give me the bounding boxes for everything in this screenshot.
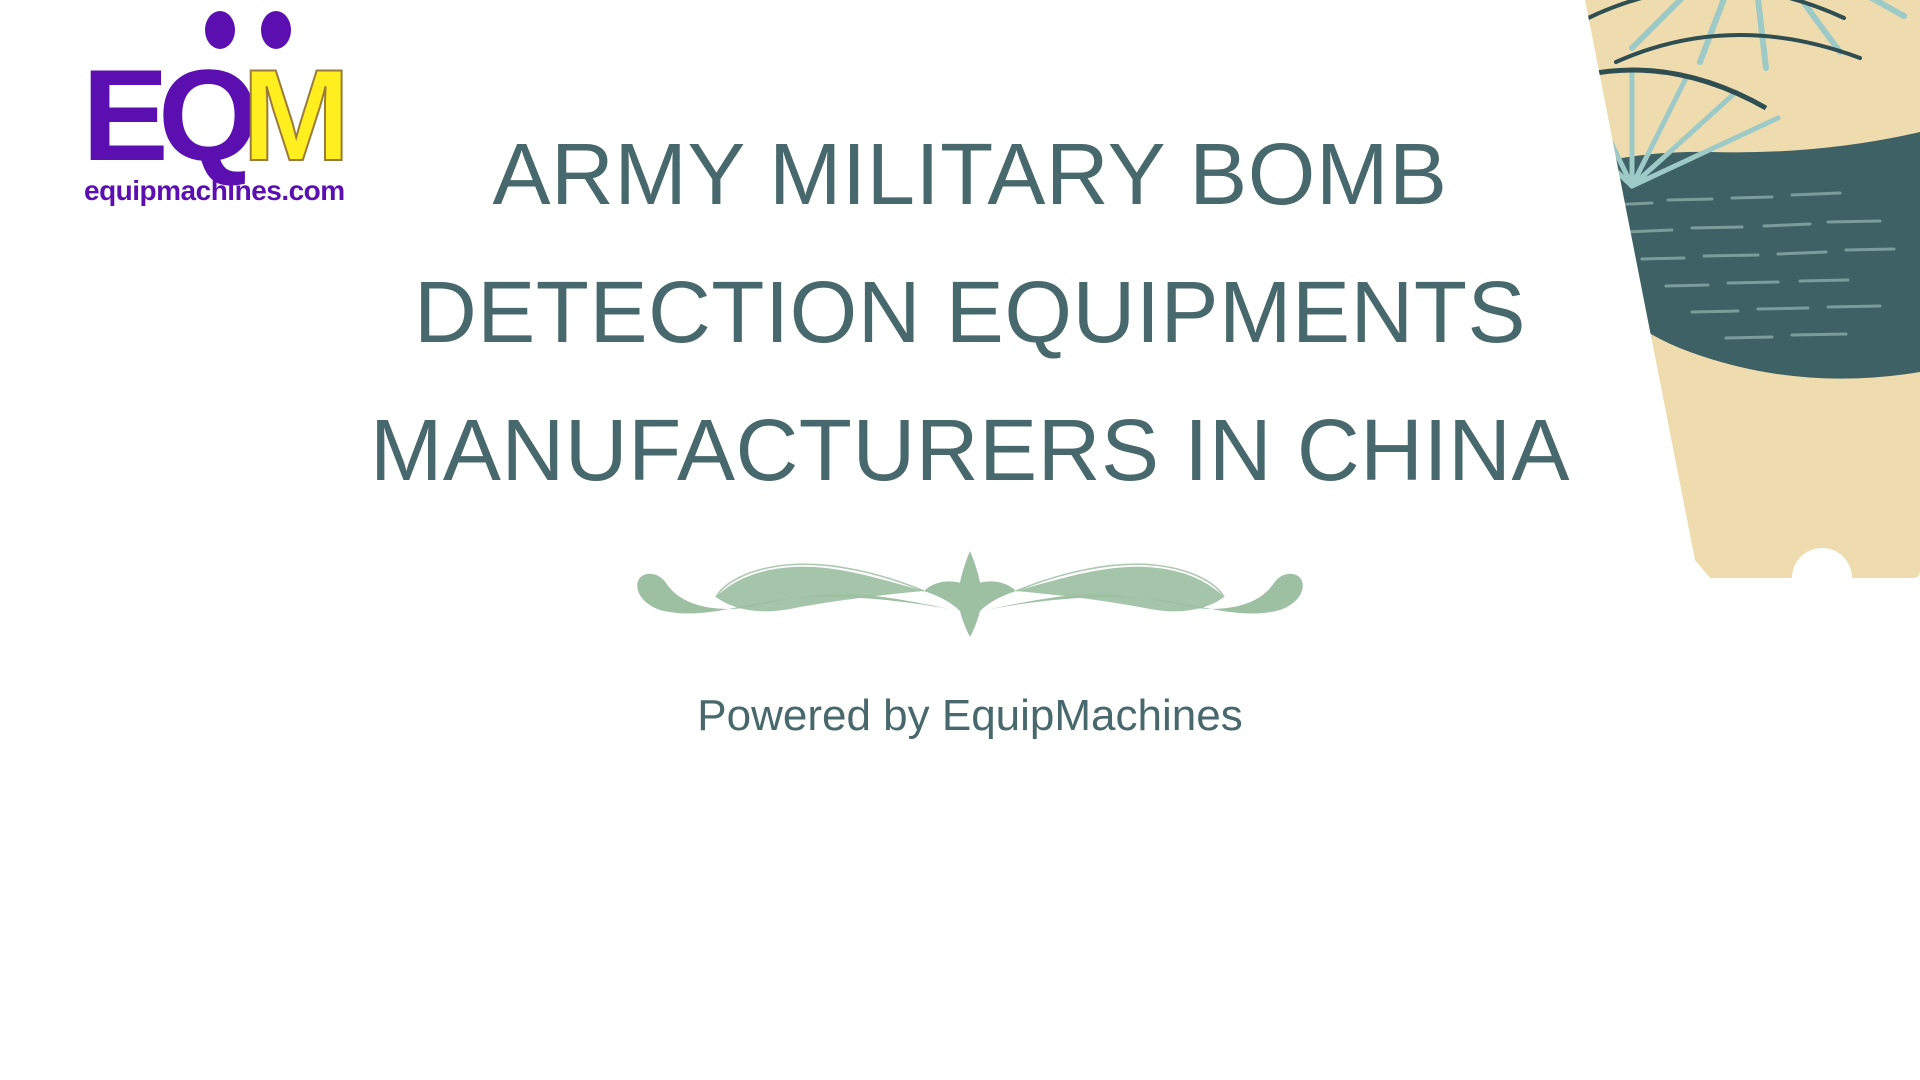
fan-upper-icon [1580, 0, 1904, 68]
title-line-2: DETECTION EQUIPMENTS [300, 244, 1640, 382]
slide-subtitle: Powered by EquipMachines [300, 686, 1640, 746]
logo-letter-e: E [82, 42, 169, 188]
ornamental-divider [300, 534, 1640, 654]
title-line-3: MANUFACTURERS IN CHINA [300, 382, 1640, 520]
slide-title: ARMY MILITARY BOMB DETECTION EQUIPMENTS … [300, 106, 1640, 520]
band-notch [1792, 548, 1852, 578]
presentation-slide: E Q M equipmachines.com ARMY MILITARY BO… [0, 0, 1920, 1080]
title-line-1: ARMY MILITARY BOMB [300, 106, 1640, 244]
